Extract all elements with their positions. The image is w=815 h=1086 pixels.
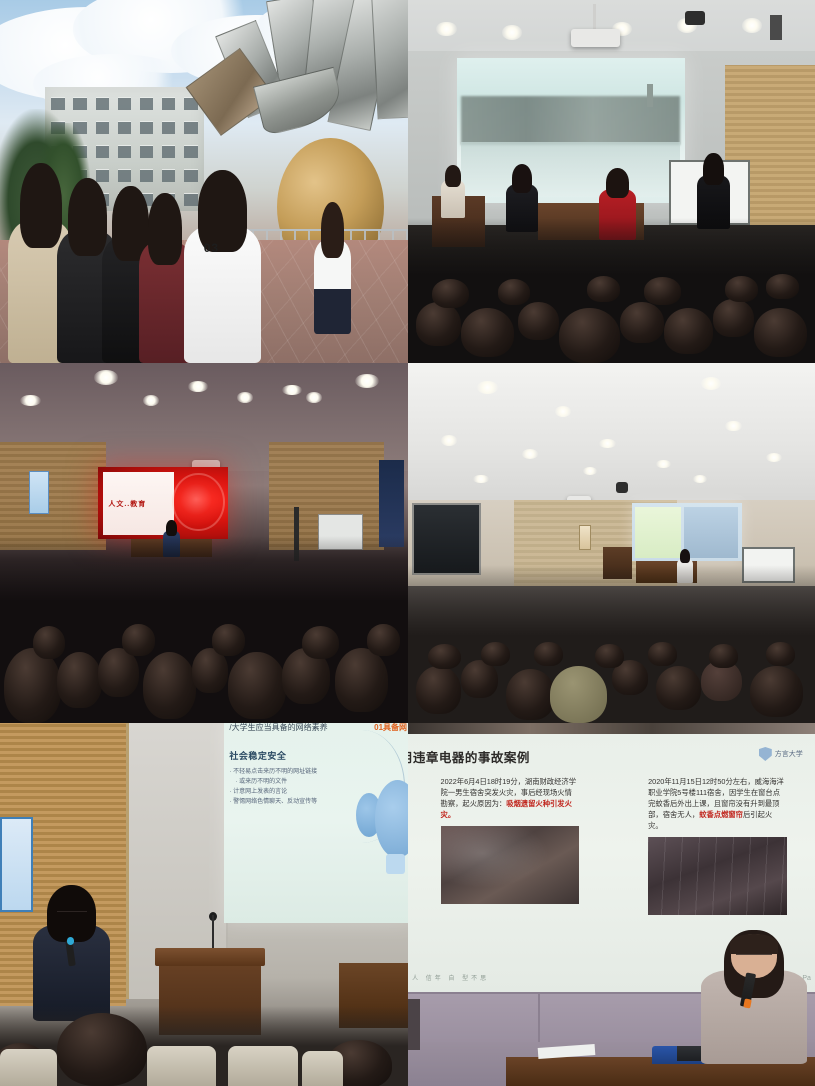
collage-panel-2-stage-performance [408,0,815,363]
female-speaker [701,934,807,1065]
lectern-top [155,948,265,966]
seat-back [302,1051,343,1086]
glasses-icon [736,954,772,962]
ceiling-light [436,22,456,37]
seat-back [228,1046,297,1086]
slide-breadcrumb: /大学生应当具备的网络素养 [229,723,327,733]
side-object [408,999,420,1050]
ceiling-light [522,449,538,458]
slide-decor-square [386,854,405,874]
case-study-right: 2020年11月15日12时50分左右，威海海洋职业学院5号楼111宿舍，因学生… [648,776,786,915]
slide-footer-left: 人 信年 自 型不思 [412,973,489,982]
collage-panel-4-tiered-lecture-hall [408,363,815,723]
collage-panel-5-network-literacy-lecture: /大学生应当具备的网络素养 01具备网 社会稳定安全 不轻易点击来历不明的网址链… [0,723,408,1086]
projection-screen [457,58,685,203]
ceiling-light [502,25,522,40]
photo-collage: 03 [0,0,815,1086]
projector-mount [593,4,596,29]
wood-acoustic-panel [0,442,106,550]
student-white-tshirt-03: 03 [184,178,262,363]
ceiling-light [656,460,670,468]
side-display-panel [379,460,403,546]
ceiling-light [20,395,40,406]
security-camera [616,482,628,493]
ceiling-light [237,392,253,403]
audience-seating [0,1006,408,1086]
audience-seating [408,565,815,723]
tshirt-number: 03 [204,241,219,255]
speaker-in-suit [33,890,111,1021]
glasses-icon [57,911,86,919]
slide-title: 用违章电器的事故案例 [408,747,530,766]
shield-icon [759,747,772,761]
ceiling-light [725,421,741,432]
audience-seating [0,536,408,723]
case-photo [648,837,786,915]
wall-seam [538,992,540,1043]
collage-panel-6-fire-safety-lecture: 用违章电器的事故案例 方言大学 2022年6月4日18时19分，湖南财政经济学院… [408,723,815,1086]
ceiling-light [742,18,762,33]
case-highlight: 蚊香点燃窗帘 [699,810,743,819]
student-tour-guide [314,207,351,334]
ceiling-light [306,392,322,403]
hall-top-strip [408,723,815,734]
wall-notice-board [579,525,591,550]
case-text: 2022年6月4日18时19分，湖南财政经济学院一男生宿舍突发火灾，事后经现场火… [441,776,579,820]
seat-back [147,1046,216,1086]
wall-notice-board [29,471,49,514]
speaker-fringe [730,934,779,955]
hall-ceiling [408,363,815,507]
emblem-label: 方言大学 [775,749,803,759]
ceiling-light [477,381,497,394]
university-emblem: 方言大学 [759,747,803,761]
slide-section-badge: 01具备网 [374,723,407,733]
wall-speaker [770,15,782,40]
wall-notice-board [0,817,33,911]
case-photo [441,826,579,904]
ceiling-light [599,439,615,448]
ceiling-projector [571,29,620,47]
ceiling-light [441,435,457,446]
collage-panel-3-led-screen-hall: 人文..教育 [0,363,408,723]
case-text: 2020年11月15日12时50分左右，威海海洋职业学院5号楼111宿舍，因学生… [648,776,786,831]
led-slide-title: 人文..教育 [108,499,146,509]
performer-host [441,167,465,218]
projected-slide: /大学生应当具备的网络素养 01具备网 社会稳定安全 不轻易点击来历不明的网址链… [224,723,408,923]
security-camera [685,11,705,26]
ceiling-light [693,475,707,483]
case-study-left: 2022年6月4日18时19分，湖南财政经济学院一男生宿舍突发火灾，事后经现场火… [441,776,579,904]
collage-panel-1-campus-plaza: 03 [0,0,408,363]
ceiling-light [94,370,118,384]
ceiling-light [555,406,571,417]
ceiling-light [188,381,208,392]
audience-seating [408,218,815,363]
seat-back [0,1049,57,1086]
